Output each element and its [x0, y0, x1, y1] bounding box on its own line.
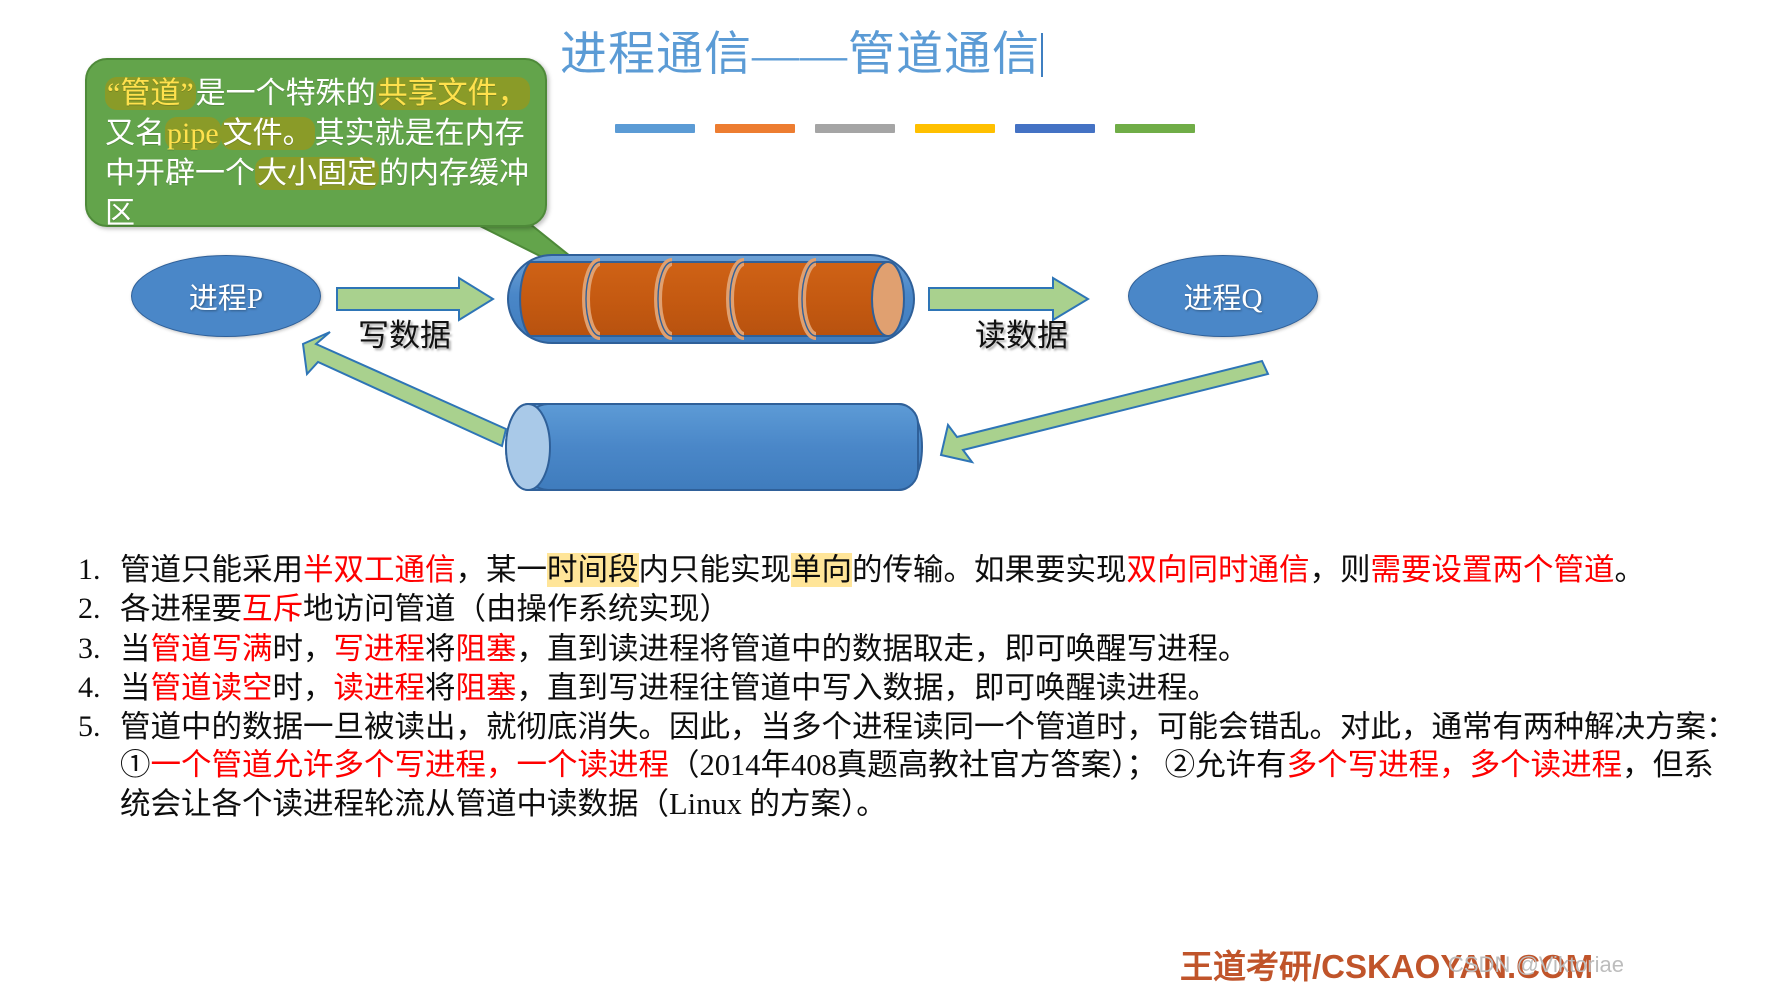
- list-item-body: 当管道读空时，读进程将阻塞，直到写进程往管道中写入数据，即可唤醒读进程。: [120, 669, 1738, 707]
- callout-seg-5: pipe: [165, 117, 221, 150]
- arrow-q-to-empty: [941, 361, 1268, 462]
- list-item-body: 管道只能采用半双工通信，某一时间段内只能实现单向的传输。如果要实现双向同时通信，…: [120, 551, 1738, 589]
- process-q-label: 进程Q: [1129, 256, 1317, 336]
- text-run: 将: [425, 632, 456, 666]
- write-data-label: 写数据: [358, 310, 451, 355]
- page-title: 进程通信——管道通信: [560, 28, 1260, 82]
- accent-rule-1: [615, 124, 695, 133]
- text-run: 当: [120, 632, 151, 666]
- notes-list: 1. 管道只能采用半双工通信，某一时间段内只能实现单向的传输。如果要实现双向同时…: [78, 551, 1738, 824]
- text-run: 一个管道允许多个写进程，一个读进程: [151, 748, 670, 782]
- text-run: 多个写进程，多个读进程: [1287, 748, 1623, 782]
- read-data-label: 读数据: [975, 310, 1068, 355]
- list-item-number: 2.: [78, 590, 120, 628]
- callout-bubble: “管道”是一个特殊的共享文件，又名pipe文件。其实就是在内存中开辟一个大小固定…: [85, 58, 547, 227]
- text-run: 时间段: [547, 553, 639, 587]
- text-caret: [1041, 33, 1043, 77]
- text-run: 读进程: [334, 671, 426, 705]
- text-run: 时，: [273, 671, 334, 705]
- slide-canvas: 进程通信——管道通信 “管道”是一个特殊的共享文件，又名pipe文件。其实就是在…: [0, 0, 1784, 996]
- text-run: 管道只能采用: [120, 553, 303, 587]
- text-run: 阻塞: [456, 632, 517, 666]
- list-item-body: 管道中的数据一旦被读出，就彻底消失。因此，当多个进程读同一个管道时，可能会错乱。…: [120, 708, 1738, 823]
- text-run: ，直到读进程将管道中的数据取走，即可唤醒写进程。: [517, 632, 1249, 666]
- accent-rule-4: [915, 124, 995, 133]
- list-item: 1. 管道只能采用半双工通信，某一时间段内只能实现单向的传输。如果要实现双向同时…: [78, 551, 1738, 589]
- text-run: ，直到写进程往管道中写入数据，即可唤醒读进程。: [517, 671, 1219, 705]
- text-run: 管道写满: [151, 632, 273, 666]
- accent-rule-3: [815, 124, 895, 133]
- accent-rule-5: [1015, 124, 1095, 133]
- page-title-text: 进程通信——管道通信: [560, 29, 1040, 81]
- process-p-label: 进程P: [132, 256, 320, 336]
- text-run: 单向: [791, 553, 852, 587]
- text-run: 。: [1615, 553, 1646, 587]
- text-run: 时，: [273, 632, 334, 666]
- text-run: （2014年408真题高教社官方答案）； ②允许有: [669, 748, 1287, 782]
- text-run: 的传输。如果要实现: [852, 553, 1127, 587]
- list-item-number: 3.: [78, 630, 120, 668]
- accent-rule-row: [615, 124, 1195, 133]
- callout-seg-3: 共享文件，: [376, 77, 530, 110]
- list-item: 5. 管道中的数据一旦被读出，就彻底消失。因此，当多个进程读同一个管道时，可能会…: [78, 708, 1738, 823]
- list-item-body: 当管道写满时，写进程将阻塞，直到读进程将管道中的数据取走，即可唤醒写进程。: [120, 630, 1738, 668]
- callout-seg-8: 大小固定: [255, 157, 379, 190]
- text-run: 当: [120, 671, 151, 705]
- text-run: 各进程要: [120, 592, 242, 626]
- list-item: 3. 当管道写满时，写进程将阻塞，直到读进程将管道中的数据取走，即可唤醒写进程。: [78, 630, 1738, 668]
- callout-seg-1: “管道”: [105, 77, 196, 110]
- list-item-number: 4.: [78, 669, 120, 707]
- list-item: 2. 各进程要互斥地访问管道（由操作系统实现）: [78, 590, 1738, 628]
- callout-seg-2: 是一个特殊的: [196, 77, 376, 110]
- process-p-node: 进程P: [131, 255, 321, 337]
- text-run: ，则: [1310, 553, 1371, 587]
- process-q-node: 进程Q: [1128, 255, 1318, 337]
- text-run: 地访问管道（由操作系统实现）: [303, 592, 730, 626]
- list-item-number: 5.: [78, 708, 120, 746]
- text-run: 管道读空: [151, 671, 273, 705]
- list-item: 4. 当管道读空时，读进程将阻塞，直到写进程往管道中写入数据，即可唤醒读进程。: [78, 669, 1738, 707]
- text-run: 双向同时通信: [1127, 553, 1310, 587]
- accent-rule-2: [715, 124, 795, 133]
- pipe-full: [508, 255, 914, 343]
- watermark-csdn: CSDN @Viktoriae: [1448, 952, 1624, 978]
- list-item-number: 1.: [78, 551, 120, 589]
- accent-rule-6: [1115, 124, 1195, 133]
- callout-text: “管道”是一个特殊的共享文件，又名pipe文件。其实就是在内存中开辟一个大小固定…: [105, 74, 530, 234]
- text-run: 内只能实现: [639, 553, 792, 587]
- callout-seg-6: 文件。: [221, 117, 315, 150]
- pipe-empty: [506, 404, 922, 490]
- text-run: 半双工通信: [303, 553, 456, 587]
- list-item-body: 各进程要互斥地访问管道（由操作系统实现）: [120, 590, 1738, 628]
- text-run: 阻塞: [456, 671, 517, 705]
- text-run: 写进程: [334, 632, 426, 666]
- callout-seg-4: 又名: [105, 117, 165, 150]
- text-run: 需要设置两个管道: [1371, 553, 1615, 587]
- text-run: 将: [425, 671, 456, 705]
- text-run: ，某一: [456, 553, 548, 587]
- text-run: 互斥: [242, 592, 303, 626]
